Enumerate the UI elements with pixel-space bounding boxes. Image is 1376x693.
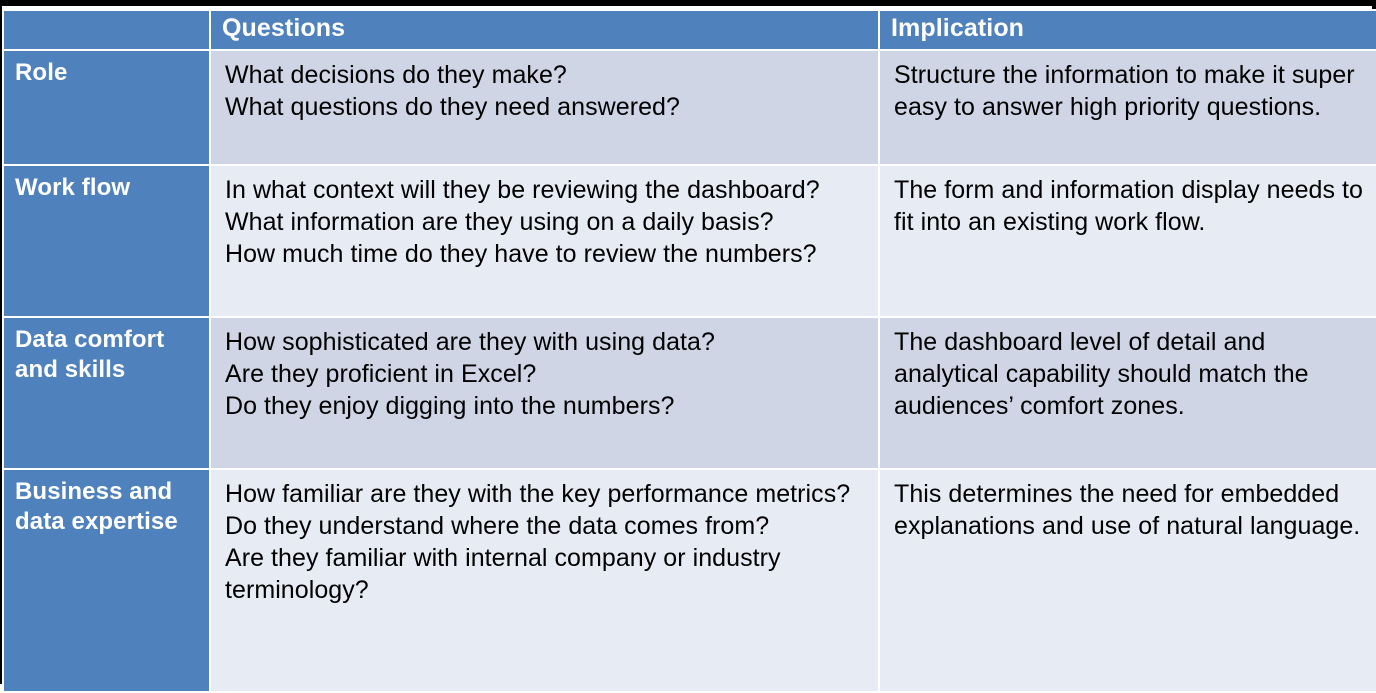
question-line: How much time do they have to review the…	[225, 238, 870, 270]
implication-line: The dashboard level of detail and analyt…	[894, 326, 1370, 422]
cell-questions-business-expertise: How familiar are they with the key perfo…	[211, 470, 878, 691]
slide-frame: Questions Implication Role What decision…	[0, 0, 1376, 684]
implication-line: This determines the need for embedded ex…	[894, 478, 1370, 542]
cell-implication-work-flow: The form and information display needs t…	[880, 166, 1376, 316]
cell-questions-role: What decisions do they make? What questi…	[211, 51, 878, 164]
implication-line: Structure the information to make it sup…	[894, 59, 1370, 123]
row-label-business-and-data-expertise: Business and data expertise	[4, 470, 209, 691]
cell-implication-role: Structure the information to make it sup…	[880, 51, 1376, 164]
header-cell-implication: Implication	[880, 11, 1376, 49]
table-row: Role What decisions do they make? What q…	[4, 51, 1376, 164]
question-line: Do they understand where the data comes …	[225, 510, 870, 542]
table-row: Work flow In what context will they be r…	[4, 166, 1376, 316]
table-header: Questions Implication	[4, 11, 1376, 49]
implication-line: The form and information display needs t…	[894, 174, 1370, 238]
header-cell-category	[4, 11, 209, 49]
row-label-data-comfort-and-skills: Data comfort and skills	[4, 318, 209, 468]
question-line: Do they enjoy digging into the numbers?	[225, 390, 870, 422]
cell-implication-data-comfort: The dashboard level of detail and analyt…	[880, 318, 1376, 468]
row-label-work-flow: Work flow	[4, 166, 209, 316]
question-line: Are they proficient in Excel?	[225, 358, 870, 390]
table-body: Role What decisions do they make? What q…	[4, 51, 1376, 691]
question-line: How familiar are they with the key perfo…	[225, 478, 870, 510]
question-line: How sophisticated are they with using da…	[225, 326, 870, 358]
table-row: Data comfort and skills How sophisticate…	[4, 318, 1376, 468]
cell-questions-work-flow: In what context will they be reviewing t…	[211, 166, 878, 316]
question-line: In what context will they be reviewing t…	[225, 174, 870, 206]
cell-questions-data-comfort: How sophisticated are they with using da…	[211, 318, 878, 468]
question-line: What questions do they need answered?	[225, 91, 870, 123]
cell-implication-business-expertise: This determines the need for embedded ex…	[880, 470, 1376, 691]
header-cell-questions: Questions	[211, 11, 878, 49]
header-row: Questions Implication	[4, 11, 1376, 49]
table-row: Business and data expertise How familiar…	[4, 470, 1376, 691]
question-line: What information are they using on a dai…	[225, 206, 870, 238]
table-container: Questions Implication Role What decision…	[2, 6, 1372, 678]
audience-questions-table: Questions Implication Role What decision…	[2, 9, 1376, 693]
question-line: What decisions do they make?	[225, 59, 870, 91]
row-label-role: Role	[4, 51, 209, 164]
question-line: Are they familiar with internal company …	[225, 542, 870, 606]
